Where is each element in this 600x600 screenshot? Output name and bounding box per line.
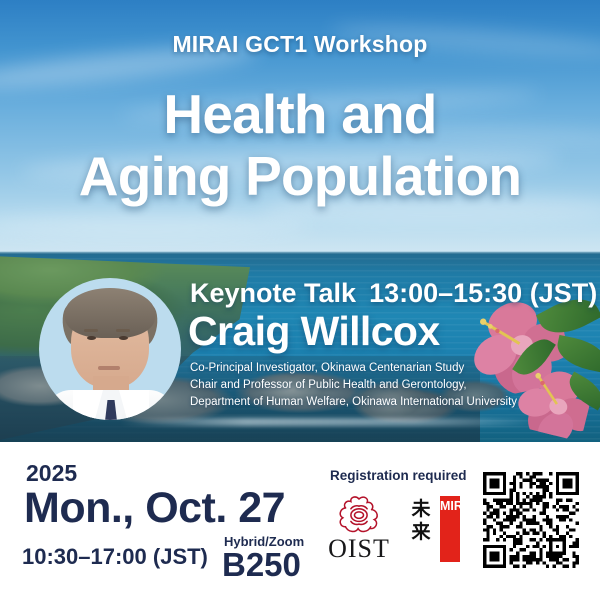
- oist-logo: OIST: [320, 494, 398, 566]
- event-time: 10:30–17:00 (JST): [22, 544, 208, 570]
- workshop-label: MIRAI GCT1 Workshop: [0, 31, 600, 58]
- mirai-romaji: MIRAI: [440, 500, 460, 512]
- surf-line: [120, 418, 540, 426]
- oist-coral-emblem-icon: [332, 494, 386, 538]
- horizon-line: [0, 251, 600, 254]
- speaker-affiliation: Co-Principal Investigator, Okinawa Cente…: [190, 360, 570, 411]
- page-title-line-2: Aging Population: [0, 146, 600, 208]
- event-year: 2025: [26, 460, 77, 487]
- speaker-portrait: [39, 278, 181, 420]
- speaker-name: Craig Willcox: [188, 308, 440, 355]
- portrait-brow: [84, 329, 98, 332]
- page-title-line-1: Health and: [0, 84, 600, 146]
- registration-note: Registration required: [330, 468, 467, 483]
- affiliation-line: Department of Human Welfare, Okinawa Int…: [190, 394, 570, 411]
- keynote-time: 13:00–15:30 (JST): [369, 278, 597, 308]
- portrait-brow: [116, 329, 130, 332]
- keynote-heading: Keynote Talk13:00–15:30 (JST): [190, 278, 597, 309]
- portrait-eye: [119, 336, 128, 340]
- affiliation-line: Co-Principal Investigator, Okinawa Cente…: [190, 360, 570, 377]
- portrait-eye: [87, 336, 96, 340]
- keynote-label: Keynote Talk: [190, 278, 356, 308]
- mirai-red-bar: MIRAI: [440, 496, 460, 562]
- event-date: Mon., Oct. 27: [24, 484, 285, 533]
- details-panel: 2025 Mon., Oct. 27 10:30–17:00 (JST) Hyb…: [0, 442, 600, 600]
- page-title: Health and Aging Population: [0, 84, 600, 207]
- oist-wordmark: OIST: [316, 534, 402, 564]
- event-room: B250: [222, 546, 301, 584]
- affiliation-line: Chair and Professor of Public Health and…: [190, 377, 570, 394]
- mirai-logo: 未来 MIRAI: [404, 494, 466, 566]
- workshop-poster: MIRAI GCT1 Workshop Health and Aging Pop…: [0, 0, 600, 600]
- mirai-kanji: 未来: [404, 498, 438, 544]
- portrait-mouth: [98, 366, 120, 370]
- portrait-hair: [65, 288, 155, 338]
- registration-qr-code[interactable]: [483, 472, 579, 568]
